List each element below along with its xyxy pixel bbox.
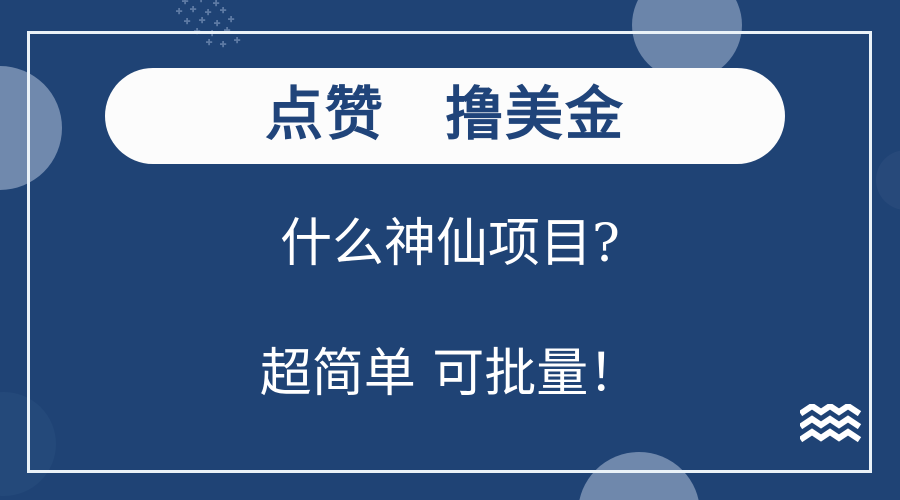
decor-circle-right-edge	[876, 150, 900, 210]
body-line-2: 超简单 可批量！	[0, 348, 900, 400]
wave-lines-icon	[800, 404, 862, 444]
headline-text: 点赞 撸美金	[265, 85, 625, 143]
headline-pill: 点赞 撸美金	[105, 68, 785, 164]
body-line-1: 什么神仙项目?	[0, 218, 900, 270]
poster-canvas: 点赞 撸美金 什么神仙项目? 超简单 可批量！	[0, 0, 900, 500]
